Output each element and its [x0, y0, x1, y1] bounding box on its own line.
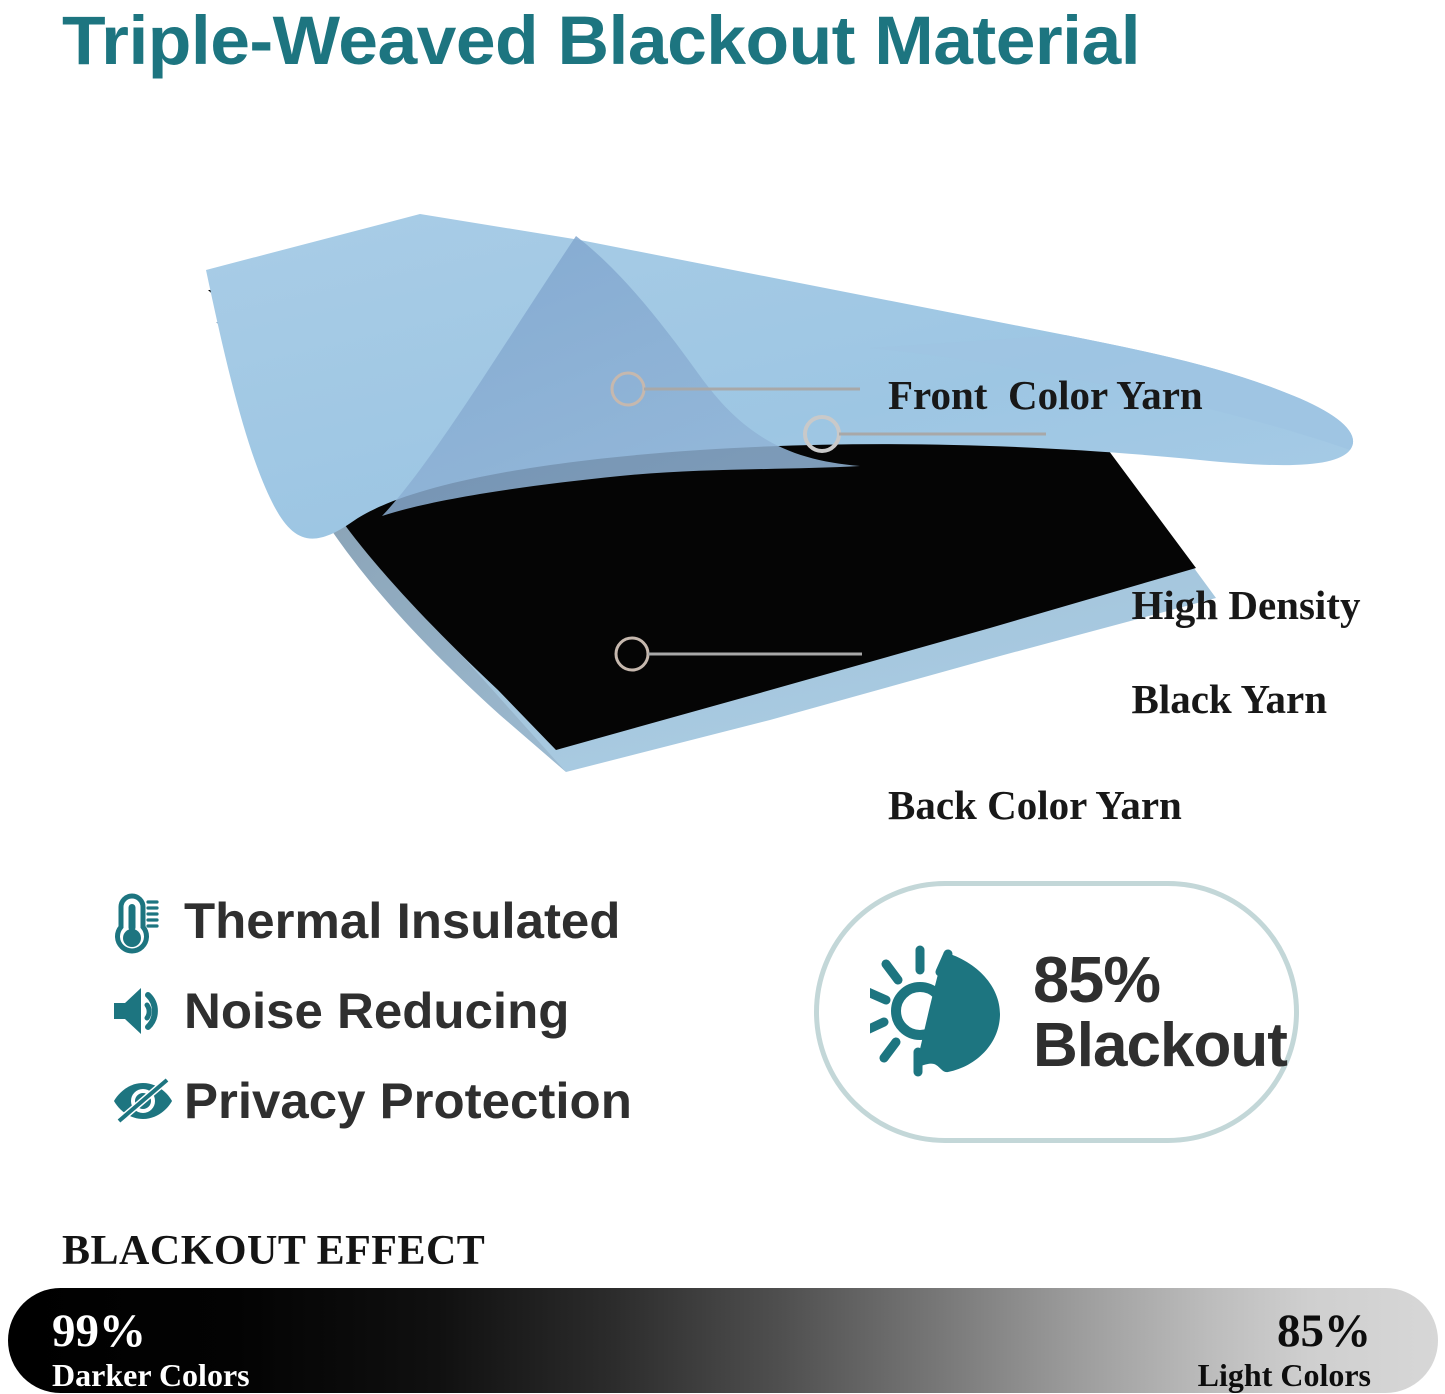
badge-percent-value: 85%	[1033, 947, 1287, 1013]
stat-darker-colors: 99% Darker Colors	[52, 1308, 250, 1391]
stat-darker-caption: Darker Colors	[52, 1359, 250, 1391]
stat-darker-value: 99%	[52, 1308, 250, 1355]
feature-noise-reducing: Noise Reducing	[104, 966, 744, 1056]
badge-blackout-word: Blackout	[1033, 1014, 1287, 1077]
stat-light-caption: Light Colors	[1198, 1359, 1371, 1391]
infographic-page: Triple-Weaved Blackout Material	[0, 0, 1445, 1394]
feature-label-thermal-insulated: Thermal Insulated	[184, 894, 620, 948]
eye-slash-icon	[104, 1077, 184, 1125]
stat-light-value: 85%	[1198, 1308, 1371, 1355]
diagram-label-back-color-yarn: Back Color Yarn	[888, 782, 1182, 829]
feature-label-privacy-protection: Privacy Protection	[184, 1074, 632, 1128]
badge-text: 85% Blackout	[1033, 947, 1287, 1077]
diagram-label-line-1: High Density	[1132, 582, 1361, 628]
feature-label-noise-reducing: Noise Reducing	[184, 984, 569, 1038]
fabric-layers-diagram: Front Color Yarn High Density Black Yarn…	[0, 150, 1445, 800]
page-title: Triple-Weaved Blackout Material	[62, 2, 1439, 82]
feature-privacy-protection: Privacy Protection	[104, 1056, 744, 1146]
stat-light-colors: 85% Light Colors	[1198, 1308, 1371, 1391]
feature-thermal-insulated: Thermal Insulated	[104, 876, 744, 966]
blackout-effect-heading: BLACKOUT EFFECT	[62, 1228, 485, 1274]
diagram-label-front-color-yarn: Front Color Yarn	[888, 372, 1203, 419]
diagram-label-high-density-black-yarn: High Density Black Yarn	[1070, 535, 1360, 770]
sun-blocked-by-curtain-icon	[865, 942, 1015, 1082]
feature-list: Thermal Insulated Noise Reducing	[104, 876, 744, 1146]
thermometer-icon	[104, 886, 184, 956]
diagram-label-line-2: Black Yarn	[1132, 676, 1328, 722]
blackout-percentage-badge: 85% Blackout	[814, 881, 1299, 1143]
speaker-volume-icon	[104, 982, 184, 1040]
